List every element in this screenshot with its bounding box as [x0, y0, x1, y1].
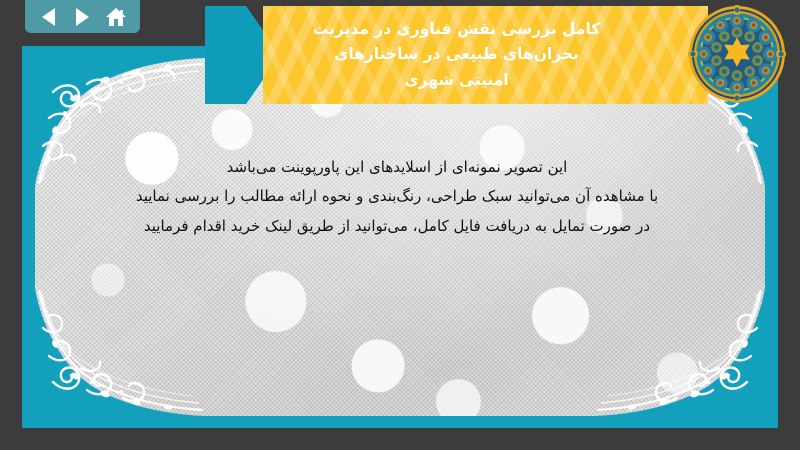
- next-slide-button[interactable]: [68, 4, 96, 30]
- slide-body-text: این تصویر نمونه‌ای از اسلایدهای این پاور…: [75, 153, 719, 241]
- previous-slide-button[interactable]: [35, 4, 63, 30]
- title-line-3: امنیتی شهری: [404, 68, 508, 93]
- title-banner: کامل بررسی نقش فناوری در مدیریت بحران‌ها…: [205, 6, 708, 104]
- persian-medallion-ornament: [688, 5, 786, 103]
- home-icon: [105, 7, 127, 27]
- title-line-1: کامل بررسی نقش فناوری در مدیریت: [313, 17, 601, 42]
- body-line-2: با مشاهده آن می‌توانید سبک طراحی، رنگ‌بن…: [75, 182, 719, 211]
- title-line-2: بحران‌های طبیعی در ساختارهای: [334, 42, 579, 67]
- body-line-1: این تصویر نمونه‌ای از اسلایدهای این پاور…: [75, 153, 719, 182]
- home-button[interactable]: [102, 4, 130, 30]
- arabesque-corner-ornament-bottom-right: [595, 288, 765, 416]
- slide-content-area: این تصویر نمونه‌ای از اسلایدهای این پاور…: [35, 58, 765, 416]
- triangle-right-icon: [76, 8, 89, 26]
- slide-stage: این تصویر نمونه‌ای از اسلایدهای این پاور…: [0, 0, 800, 450]
- triangle-left-icon: [42, 8, 55, 26]
- slide-title: کامل بررسی نقش فناوری در مدیریت بحران‌ها…: [205, 6, 708, 104]
- navigation-bar: [25, 0, 140, 33]
- arabesque-corner-ornament-bottom-left: [35, 288, 205, 416]
- body-line-3: در صورت تمایل به دریافت فایل کامل، می‌تو…: [75, 212, 719, 241]
